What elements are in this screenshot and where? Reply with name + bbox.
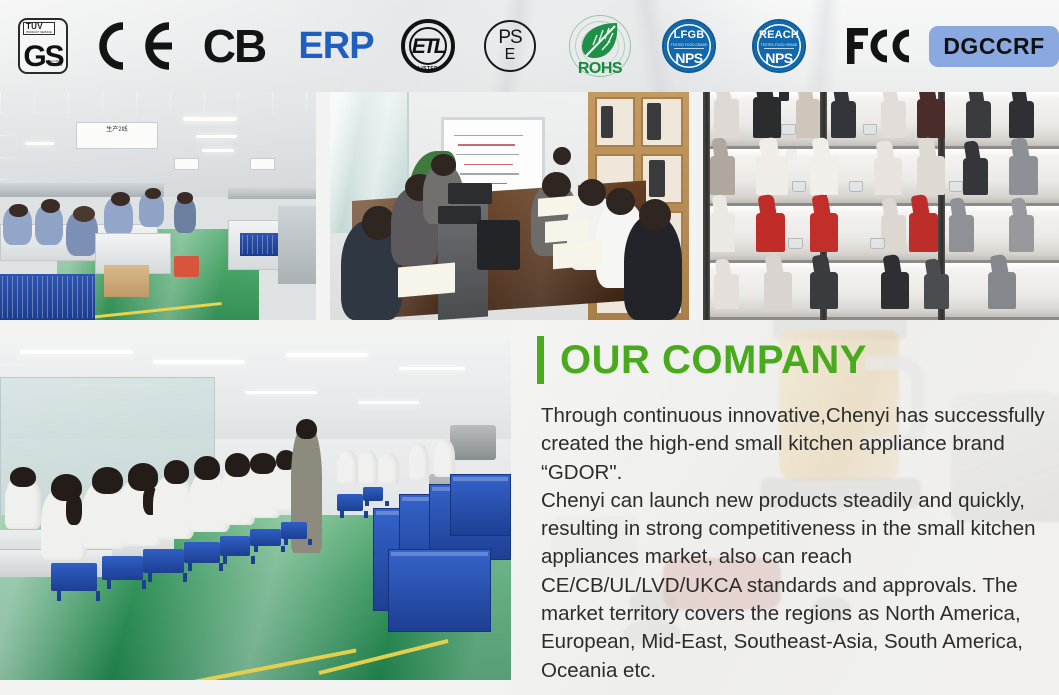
- cert-logo-reach: REACH TESTED FOOD GRADE NPS: [742, 0, 816, 92]
- lfgb-badge: LFGB TESTED FOOD GRADE NPS: [662, 19, 716, 73]
- lfgb-bottom-label: NPS: [675, 51, 702, 65]
- cert-logo-tuv-gs: TUV PRODUCT SERVICE GS geprufte Sicherhe…: [6, 0, 80, 92]
- erp-label: ERP: [298, 27, 373, 65]
- pse-top-label: PS: [498, 29, 521, 46]
- cert-logo-rohs: ROHS: [560, 0, 640, 92]
- photo-showroom: [703, 92, 1059, 320]
- reach-divider: [764, 48, 794, 49]
- lfgb-divider: [674, 48, 704, 49]
- tuv-box: TUV PRODUCT SERVICE: [23, 22, 55, 35]
- tuv-tiny-label: PRODUCT SERVICE: [26, 31, 52, 34]
- photo-meeting-room: [330, 92, 689, 320]
- company-description: Through continuous innovative,Chenyi has…: [541, 402, 1053, 685]
- page-title: OUR COMPANY: [560, 340, 867, 380]
- cert-logo-erp: ERP: [288, 0, 384, 92]
- cert-logo-dgccrf: DGCCRF: [934, 0, 1054, 92]
- photo-production-line: 生产2线: [0, 92, 316, 320]
- pse-bottom-label: E: [505, 48, 516, 63]
- gs-badge: TUV PRODUCT SERVICE GS geprufte Sicherhe…: [18, 18, 68, 74]
- lfgb-tiny-label: TESTED FOOD GRADE: [671, 43, 708, 47]
- section-heading: OUR COMPANY: [537, 336, 867, 384]
- lfgb-top-label: LFGB: [674, 30, 705, 41]
- cert-logo-ce: [90, 0, 180, 92]
- cert-logo-fcc: [834, 0, 924, 92]
- rohs-badge: ROHS: [569, 15, 631, 77]
- etl-sub-label: LISTED: [401, 66, 455, 72]
- company-profile-banner: TUV PRODUCT SERVICE GS geprufte Sicherhe…: [0, 0, 1059, 695]
- cert-logo-etl: ETL LISTED: [390, 0, 466, 92]
- dgccrf-label: DGCCRF: [929, 26, 1058, 67]
- photo-assembly-line: [0, 336, 511, 680]
- line-sign-text: 生产2线: [77, 123, 157, 135]
- cb-label: CB: [203, 23, 265, 69]
- fcc-icon: [845, 24, 913, 68]
- etl-label: ETL: [412, 36, 444, 57]
- reach-top-label: REACH: [759, 30, 799, 41]
- certification-bar: TUV PRODUCT SERVICE GS geprufte Sicherhe…: [0, 0, 1059, 92]
- ce-icon: [93, 21, 177, 71]
- company-text-panel: OUR COMPANY Through continuous innovativ…: [511, 320, 1059, 695]
- etl-badge: ETL LISTED: [401, 19, 455, 73]
- cert-logo-cb: CB: [186, 0, 282, 92]
- reach-badge: REACH TESTED FOOD GRADE NPS: [752, 19, 806, 73]
- reach-bottom-label: NPS: [765, 51, 792, 65]
- heading-accent-bar: [537, 336, 544, 384]
- cert-logo-lfgb: LFGB TESTED FOOD GRADE NPS: [652, 0, 726, 92]
- pse-badge: PS E: [484, 20, 536, 72]
- cert-logo-pse: PS E: [472, 0, 548, 92]
- leaf-icon: [579, 21, 621, 61]
- rohs-label: ROHS: [569, 60, 631, 78]
- gs-side-label: geprufte Sicherheit: [49, 60, 62, 67]
- etl-outer-ring: ETL: [401, 19, 455, 73]
- line-sign: 生产2线: [76, 122, 158, 149]
- reach-tiny-label: TESTED FOOD GRADE: [761, 43, 798, 47]
